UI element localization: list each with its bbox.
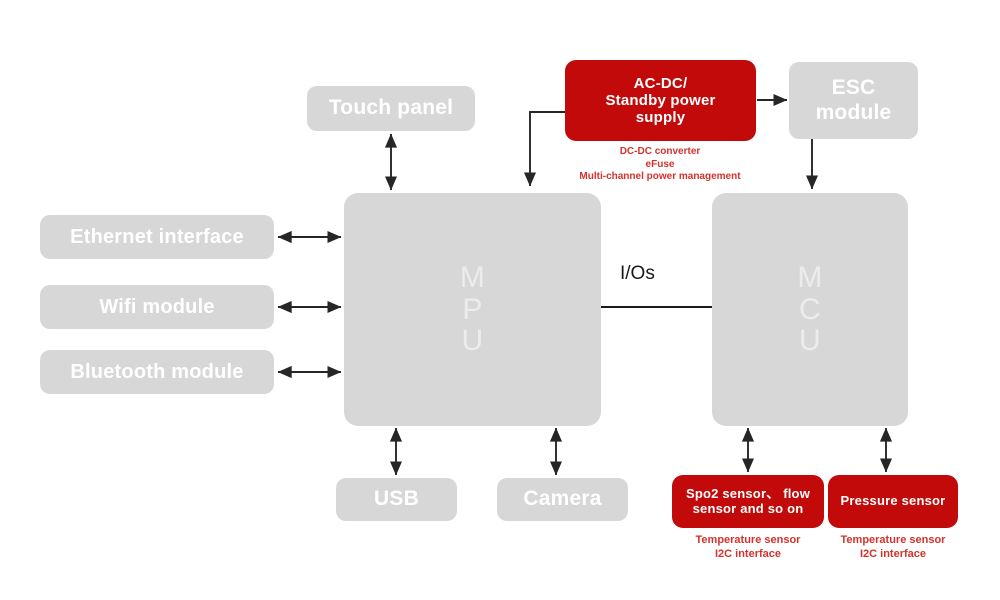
block-power-supply[interactable]: AC-DC/ Standby power supply xyxy=(565,60,756,141)
mpu-letter-3: U xyxy=(462,325,484,357)
mcu-letter-1: M xyxy=(797,262,822,294)
mpu-letter-1: M xyxy=(460,262,485,294)
mcu-letter-3: U xyxy=(799,325,821,357)
block-mcu[interactable]: M C U xyxy=(712,193,908,426)
mcu-letter-2: C xyxy=(799,294,821,326)
mpu-letter-2: P xyxy=(462,294,482,326)
mpu-letters: M P U xyxy=(460,262,485,357)
block-touch-panel[interactable]: Touch panel xyxy=(307,86,475,131)
block-diagram-canvas: Touch panel Ethernet interface Wifi modu… xyxy=(0,0,1000,600)
mcu-letters: M C U xyxy=(797,262,822,357)
block-camera[interactable]: Camera xyxy=(497,478,628,521)
block-spo2-flow-sensor[interactable]: Spo2 sensor、 flow sensor and so on xyxy=(672,475,824,528)
block-wifi-module[interactable]: Wifi module xyxy=(40,285,274,329)
io-bus-label: I/Os xyxy=(620,263,655,285)
block-esc-module[interactable]: ESC module xyxy=(789,62,918,139)
block-pressure-sensor[interactable]: Pressure sensor xyxy=(828,475,958,528)
block-bluetooth-module[interactable]: Bluetooth module xyxy=(40,350,274,394)
power-supply-caption: DC-DC converter eFuse Multi-channel powe… xyxy=(535,146,785,184)
spo2-sensor-caption: Temperature sensor I2C interface xyxy=(666,534,830,562)
block-ethernet-interface[interactable]: Ethernet interface xyxy=(40,215,274,259)
pressure-sensor-caption: Temperature sensor I2C interface xyxy=(811,534,975,562)
block-usb[interactable]: USB xyxy=(336,478,457,521)
block-mpu[interactable]: M P U xyxy=(344,193,601,426)
